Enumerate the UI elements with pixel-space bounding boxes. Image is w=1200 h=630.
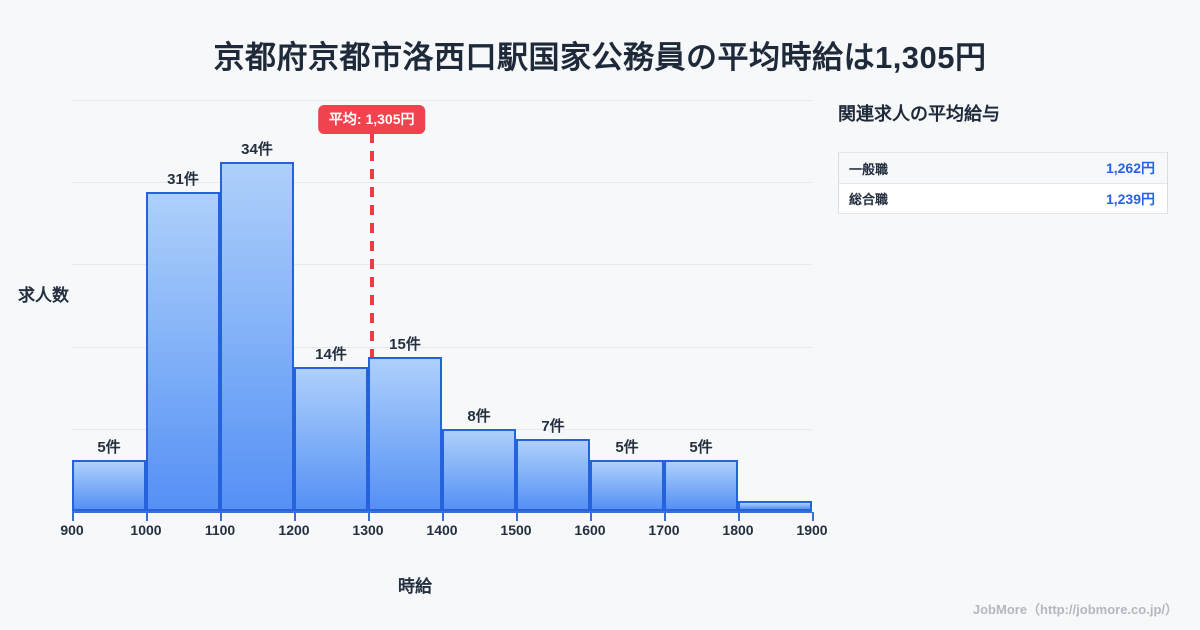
x-axis-tick-label: 900 xyxy=(60,522,83,538)
related-salary-panel: 関連求人の平均給与 一般職1,262円総合職1,239円 xyxy=(838,100,1168,214)
histogram-bar xyxy=(220,162,294,511)
bar-value-label: 5件 xyxy=(72,436,146,457)
bar-value-label: 14件 xyxy=(294,343,368,364)
bar-value-label: 34件 xyxy=(220,138,294,159)
histogram-bar xyxy=(516,439,590,511)
x-axis-tick xyxy=(738,512,740,521)
bar-value-label: 8件 xyxy=(442,405,516,426)
x-axis-tick xyxy=(442,512,444,521)
x-axis-tick-label: 1400 xyxy=(426,522,457,538)
histogram-bar xyxy=(664,460,738,511)
x-axis-tick-label: 1200 xyxy=(278,522,309,538)
x-axis-tick xyxy=(220,512,222,521)
table-row: 一般職1,262円 xyxy=(839,152,1167,183)
average-badge: 平均: 1,305円 xyxy=(318,105,426,134)
x-axis-tick xyxy=(146,512,148,521)
x-axis-tick xyxy=(294,512,296,521)
bar-value-label: 7件 xyxy=(516,415,590,436)
x-axis-tick xyxy=(812,512,814,521)
histogram-bar xyxy=(72,460,146,511)
gridline xyxy=(72,100,812,101)
x-axis-tick-label: 1900 xyxy=(796,522,827,538)
related-salary-table: 一般職1,262円総合職1,239円 xyxy=(838,152,1168,214)
x-axis-tick xyxy=(590,512,592,521)
histogram-bar xyxy=(368,357,442,511)
row-value: 1,262円 xyxy=(1106,158,1155,178)
x-axis-tick xyxy=(368,512,370,521)
histogram-bar xyxy=(294,367,368,511)
side-panel-title: 関連求人の平均給与 xyxy=(838,100,1168,126)
y-axis-title: 求人数 xyxy=(18,281,69,306)
x-axis-tick-label: 1100 xyxy=(205,522,235,538)
histogram-chart: 求人数 時給 900100011001200130014001500160017… xyxy=(0,0,830,630)
table-row: 総合職1,239円 xyxy=(839,183,1167,214)
histogram-bar xyxy=(146,192,220,511)
row-value: 1,239円 xyxy=(1106,189,1155,209)
row-label: 一般職 xyxy=(849,159,888,178)
row-label: 総合職 xyxy=(849,189,888,208)
bar-value-label: 5件 xyxy=(664,436,738,457)
x-axis-tick xyxy=(664,512,666,521)
histogram-bar xyxy=(590,460,664,511)
x-axis-tick-label: 1600 xyxy=(574,522,605,538)
x-axis-tick-label: 1800 xyxy=(722,522,753,538)
x-axis-tick-label: 1700 xyxy=(648,522,679,538)
bar-value-label: 31件 xyxy=(146,168,220,189)
bar-value-label: 15件 xyxy=(368,333,442,354)
x-axis-tick-label: 1300 xyxy=(352,522,383,538)
x-axis-tick xyxy=(72,512,74,521)
chart-page: 京都府京都市洛西口駅国家公務員の平均時給は1,305円 求人数 時給 90010… xyxy=(0,0,1200,630)
x-axis-tick-label: 1000 xyxy=(130,522,161,538)
bar-value-label: 5件 xyxy=(590,436,664,457)
footer-credit: JobMore（http://jobmore.co.jp/） xyxy=(973,599,1178,618)
x-axis-tick xyxy=(516,512,518,521)
histogram-bar xyxy=(442,429,516,511)
x-axis-tick-label: 1500 xyxy=(500,522,531,538)
x-axis-title: 時給 xyxy=(0,572,830,597)
histogram-bar xyxy=(738,501,812,511)
